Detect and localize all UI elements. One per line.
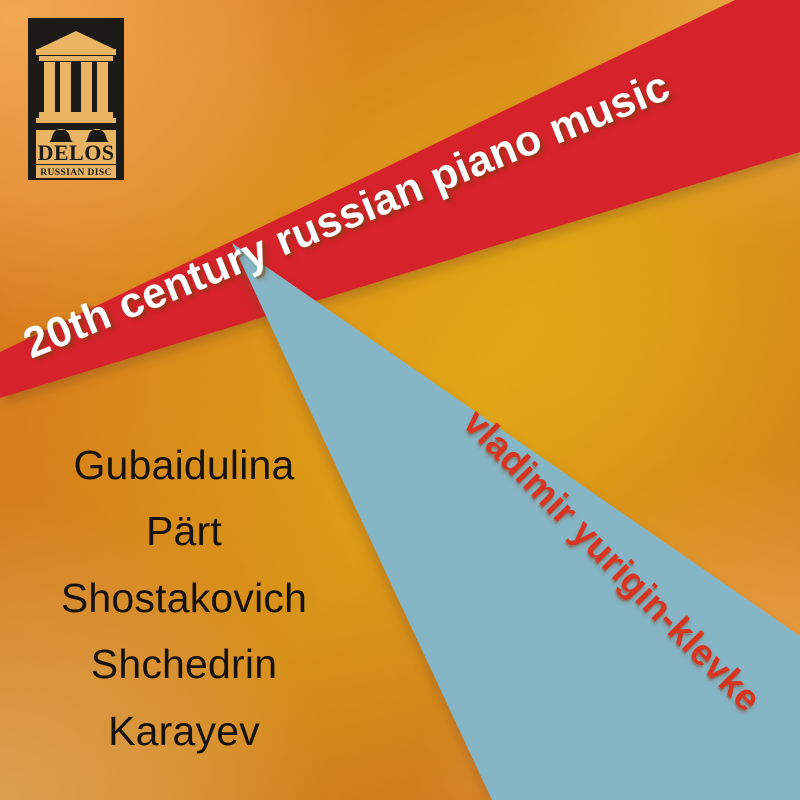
delos-label-logo[interactable]: DELOS RUSSIAN DISC: [28, 18, 124, 180]
logo-subtitle-russian-disc: RUSSIAN DISC: [40, 168, 112, 178]
logo-wordmark-delos: DELOS: [37, 140, 114, 165]
album-cover: DELOS RUSSIAN DISC 20th century russian …: [0, 0, 800, 800]
composer-item: Pärt: [34, 498, 334, 564]
composer-list: Gubaidulina Pärt Shostakovich Shchedrin …: [34, 432, 334, 764]
composer-item: Shchedrin: [34, 631, 334, 697]
composer-item: Shostakovich: [34, 565, 334, 631]
composer-item: Gubaidulina: [34, 432, 334, 498]
composer-item: Karayev: [34, 698, 334, 764]
